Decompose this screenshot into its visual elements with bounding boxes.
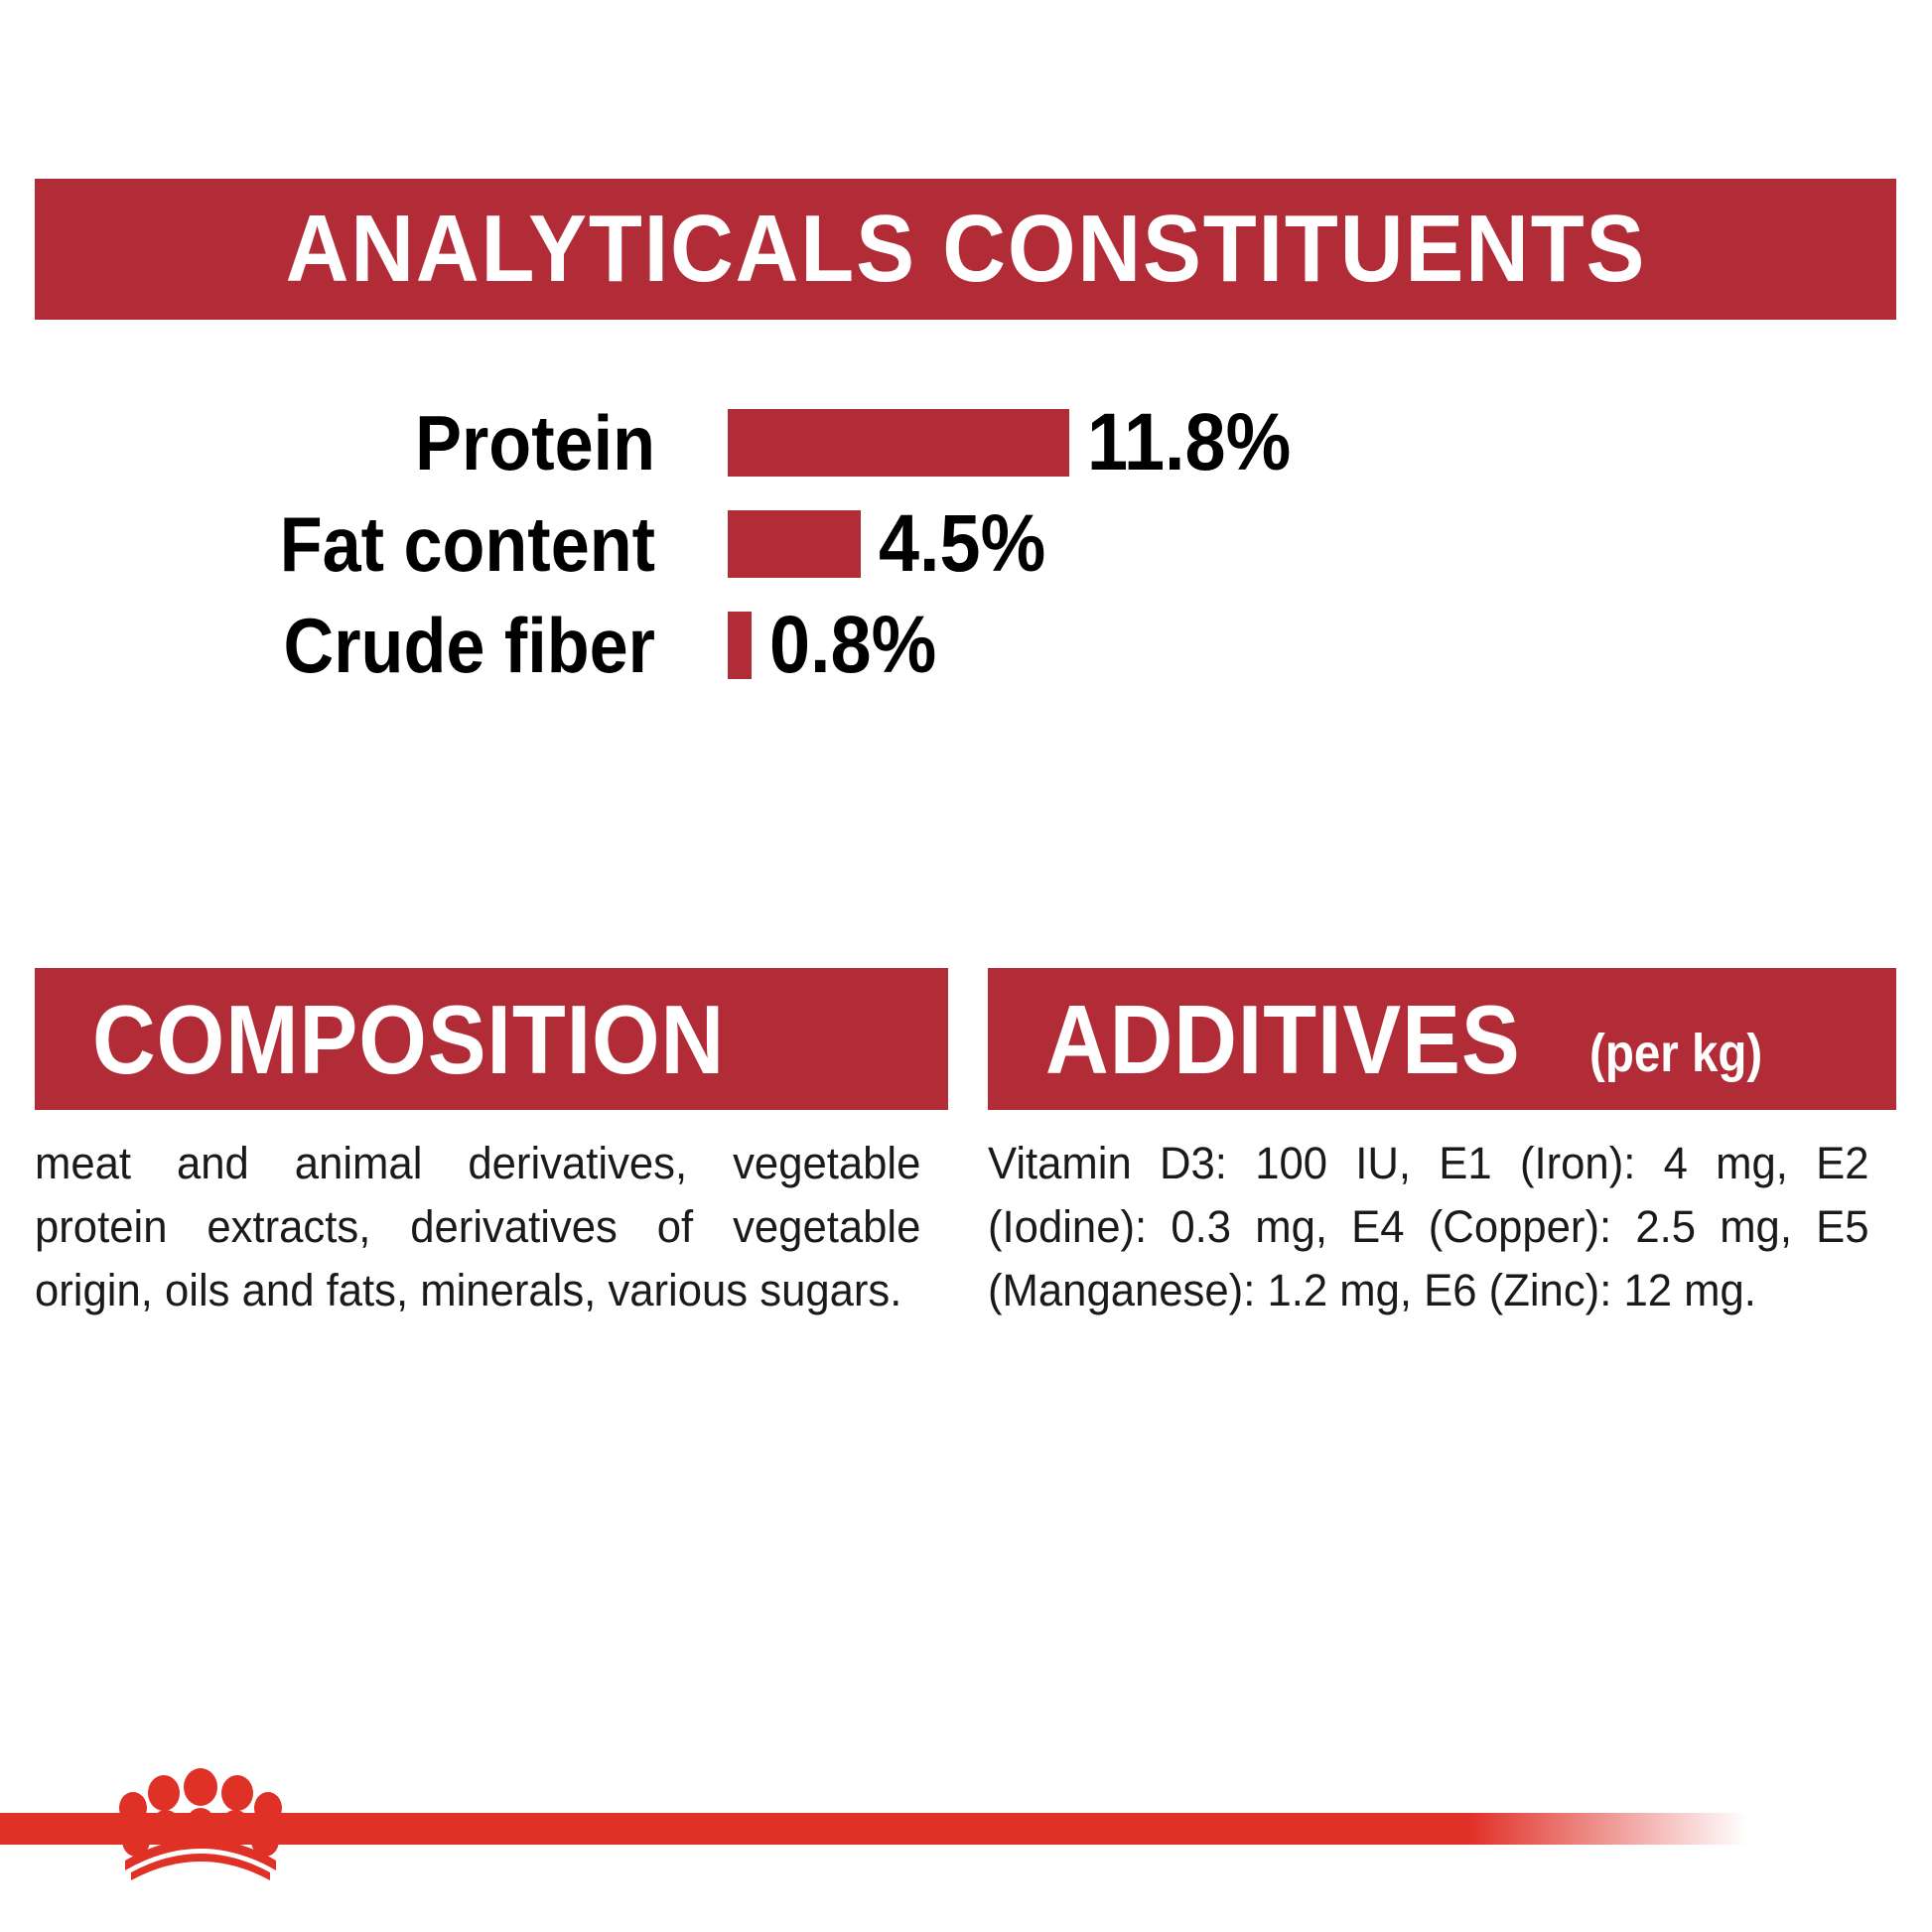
page-title: ANALYTICALS CONSTITUENTS — [285, 202, 1646, 297]
additives-text: Vitamin D3: 100 IU, E1 (Iron): 4 mg, E2 … — [988, 1132, 1869, 1322]
nutrient-bar-fat-content — [728, 510, 861, 578]
analytical-constituents-chart: Protein 11.8% Fat content 4.5% Crude fib… — [0, 392, 1932, 696]
composition-panel: COMPOSITION meat and animal derivatives,… — [35, 968, 948, 1322]
nutrient-value-fat-content: 4.5% — [879, 503, 1045, 585]
nutrient-label-protein: Protein — [66, 404, 655, 482]
bar-zone: 4.5% — [728, 503, 1064, 585]
additives-heading: ADDITIVES — [1045, 991, 1521, 1088]
analyticals-constituents-banner: ANALYTICALS CONSTITUENTS — [35, 179, 1896, 320]
nutrient-value-crude-fiber: 0.8% — [769, 605, 936, 686]
nutrient-label-crude-fiber: Crude fiber — [66, 607, 655, 684]
additives-heading-unit: (per kg) — [1589, 1027, 1762, 1080]
nutrient-value-protein: 11.8% — [1087, 402, 1291, 483]
royal-canin-crown-icon — [111, 1763, 290, 1880]
composition-heading: COMPOSITION — [92, 991, 725, 1088]
nutrient-row: Crude fiber 0.8% — [0, 595, 1932, 696]
nutrient-bar-protein — [728, 409, 1069, 477]
nutrient-bar-crude-fiber — [728, 612, 752, 679]
additives-panel: ADDITIVES (per kg) Vitamin D3: 100 IU, E… — [988, 968, 1896, 1322]
composition-text: meat and animal derivatives, vegetable p… — [35, 1132, 920, 1322]
additives-banner: ADDITIVES (per kg) — [988, 968, 1896, 1110]
nutrient-label-fat-content: Fat content — [66, 505, 655, 583]
nutrient-row: Fat content 4.5% — [0, 493, 1932, 595]
bar-zone: 11.8% — [728, 402, 1313, 483]
composition-banner: COMPOSITION — [35, 968, 948, 1110]
nutrient-row: Protein 11.8% — [0, 392, 1932, 493]
bar-zone: 0.8% — [728, 605, 955, 686]
